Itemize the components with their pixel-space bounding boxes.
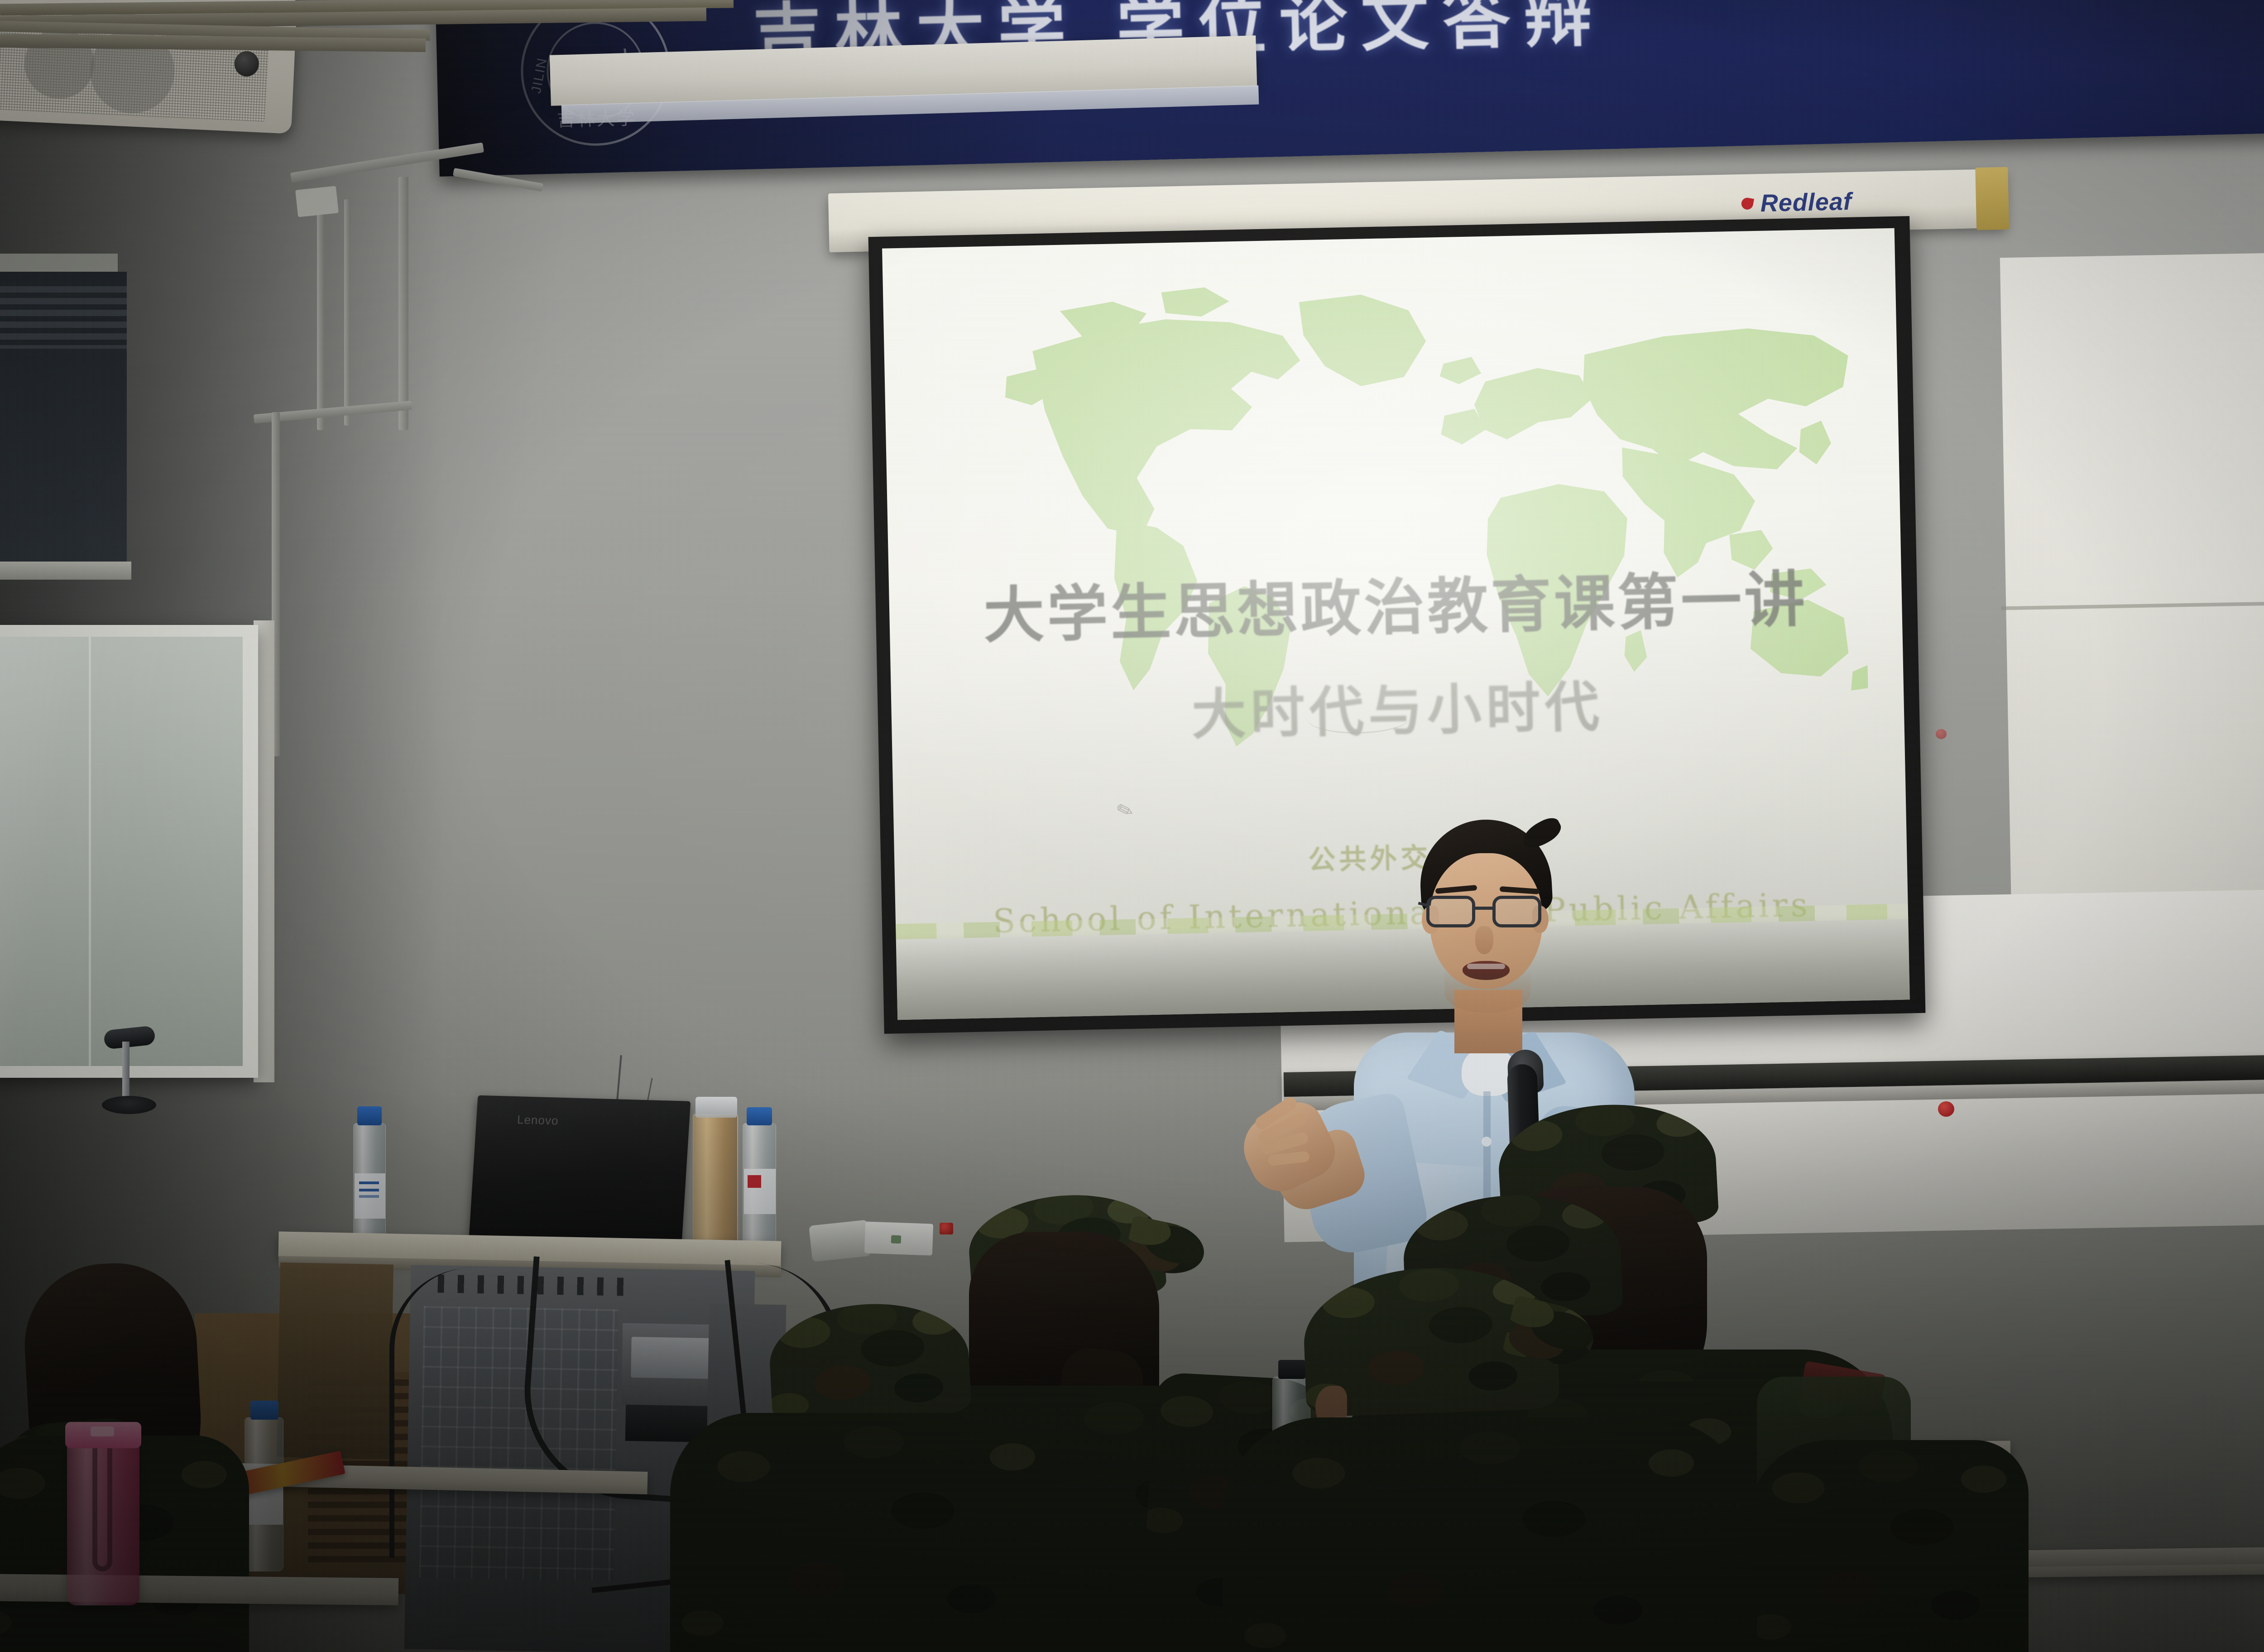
screen-brand: Redleaf (1741, 187, 1852, 218)
eyeglasses-icon (1425, 896, 1549, 929)
magnet-red-upper-icon[interactable] (1936, 729, 1947, 739)
conduit-pipe (398, 177, 408, 430)
conduit-clamp (295, 186, 339, 217)
window-sill (0, 562, 131, 580)
classroom-photo-scene: JILIN INA 吉林大学 吉林大学 学位论文答辩 Dissertation/… (0, 0, 2264, 1652)
redleaf-logo-icon (1741, 197, 1754, 211)
lecturer-chin-shading (1444, 969, 1530, 1013)
screen-brand-name: Redleaf (1760, 187, 1852, 217)
screen-smudge: ✎ (1113, 797, 1135, 820)
lens-left (1426, 896, 1475, 927)
whiteboard-right-panel (2000, 250, 2264, 946)
room-floor-shadow (0, 1086, 2264, 1652)
screen-end-cap (1975, 167, 2009, 230)
lecturer-nose (1475, 926, 1493, 954)
conduit-pipe (317, 190, 324, 430)
conduit-pipe (344, 199, 350, 426)
cabinet-glass-reflection (0, 637, 243, 1066)
window-blind (0, 281, 127, 349)
lens-right (1492, 896, 1541, 927)
glass-display-cabinet (0, 625, 258, 1078)
glasses-bridge (1474, 907, 1495, 910)
